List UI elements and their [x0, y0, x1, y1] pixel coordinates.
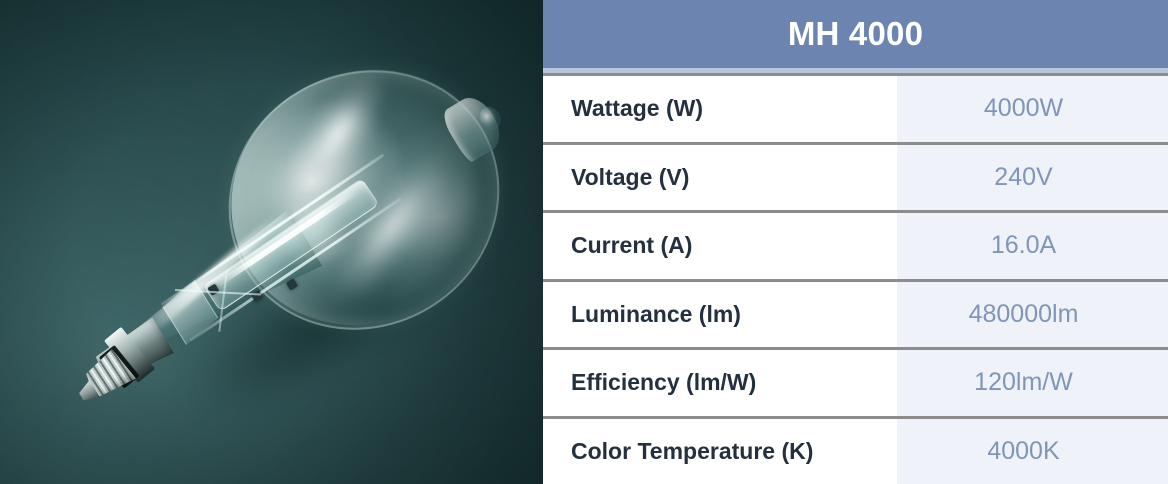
spec-table-body: Wattage (W) 4000W Voltage (V) 240V Curre…: [543, 73, 1168, 484]
table-row: Current (A) 16.0A: [543, 210, 1168, 279]
table-row: Efficiency (lm/W) 120lm/W: [543, 347, 1168, 416]
spec-label-luminance: Luminance (lm): [543, 282, 897, 348]
table-row: Wattage (W) 4000W: [543, 73, 1168, 142]
product-image-pane: [0, 0, 543, 484]
spec-label-color-temperature: Color Temperature (K): [543, 419, 897, 484]
spec-table-pane: MH 4000 Wattage (W) 4000W Voltage (V) 24…: [543, 0, 1168, 484]
table-row: Voltage (V) 240V: [543, 142, 1168, 211]
spec-table-header: MH 4000: [543, 0, 1168, 68]
spec-label-efficiency: Efficiency (lm/W): [543, 350, 897, 416]
spec-label-wattage: Wattage (W): [543, 76, 897, 142]
spec-value-voltage: 240V: [897, 145, 1168, 211]
table-row: Luminance (lm) 480000lm: [543, 279, 1168, 348]
spec-label-voltage: Voltage (V): [543, 145, 897, 211]
table-row: Color Temperature (K) 4000K: [543, 416, 1168, 484]
product-spec-card: MH 4000 Wattage (W) 4000W Voltage (V) 24…: [0, 0, 1168, 484]
spec-value-color-temperature: 4000K: [897, 419, 1168, 484]
photo-vignette: [0, 0, 543, 484]
product-title: MH 4000: [788, 15, 923, 53]
spec-value-luminance: 480000lm: [897, 282, 1168, 348]
spec-value-wattage: 4000W: [897, 76, 1168, 142]
spec-label-current: Current (A): [543, 213, 897, 279]
spec-value-efficiency: 120lm/W: [897, 350, 1168, 416]
spec-value-current: 16.0A: [897, 213, 1168, 279]
